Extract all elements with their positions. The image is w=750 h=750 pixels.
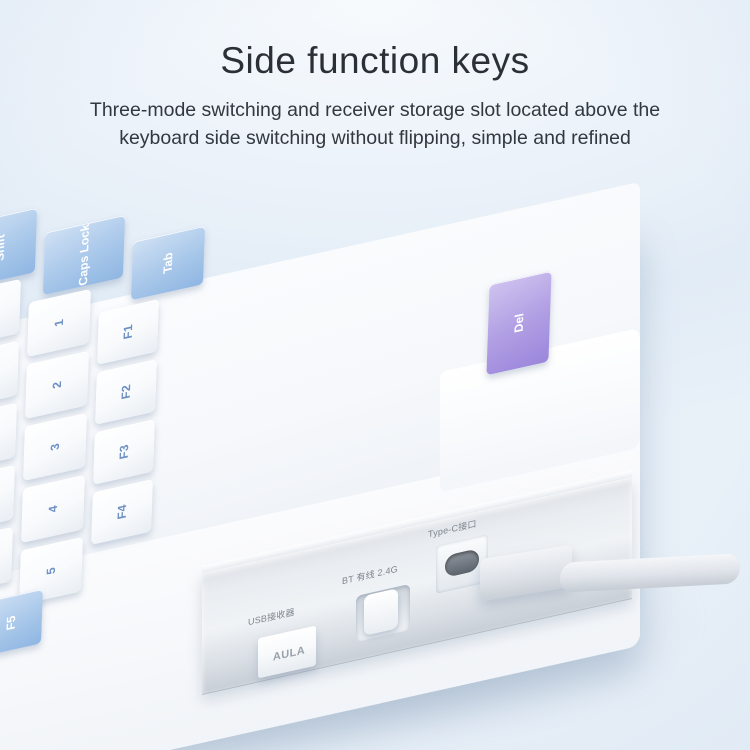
keycap-group: Ctrl Shift Caps Lock Tab A Q 1 S W 2 D E…: [0, 200, 750, 750]
keycap-tab: Tab: [131, 226, 205, 300]
keyboard: Ctrl Shift Caps Lock Tab A Q 1 S W 2 D E…: [0, 200, 750, 750]
keycap-3: 3: [23, 413, 87, 481]
headline-block: Side function keys Three-mode switching …: [0, 40, 750, 153]
keycap-capslock: Caps Lock: [43, 215, 125, 295]
keycap-4: 4: [21, 475, 85, 543]
keycap-w: W: [0, 341, 19, 409]
product-photo: Ctrl Shift Caps Lock Tab A Q 1 S W 2 D E…: [0, 0, 750, 750]
keycap-t: T: [0, 527, 13, 595]
keycap-1: 1: [27, 289, 91, 357]
keycap-del: Del: [486, 271, 551, 375]
keycap-shift: Shift: [0, 208, 37, 288]
keycap-f5: F5: [0, 589, 43, 657]
keycap-f1: F1: [97, 299, 159, 365]
keycap-f2: F2: [95, 359, 157, 425]
keycap-f3: F3: [93, 419, 155, 485]
mode-switch-knob: [364, 588, 398, 636]
keycap-e: E: [0, 403, 17, 471]
keycap-r: R: [0, 465, 15, 533]
keycap-2: 2: [25, 351, 89, 419]
keycap-f4: F4: [91, 479, 153, 545]
page-subtitle: Three-mode switching and receiver storag…: [25, 96, 725, 153]
subtitle-line-1: Three-mode switching and receiver storag…: [90, 99, 660, 121]
page-title: Side function keys: [0, 40, 750, 82]
subtitle-line-2: keyboard side switching without flipping…: [119, 127, 631, 149]
keycap-q: Q: [0, 279, 21, 347]
